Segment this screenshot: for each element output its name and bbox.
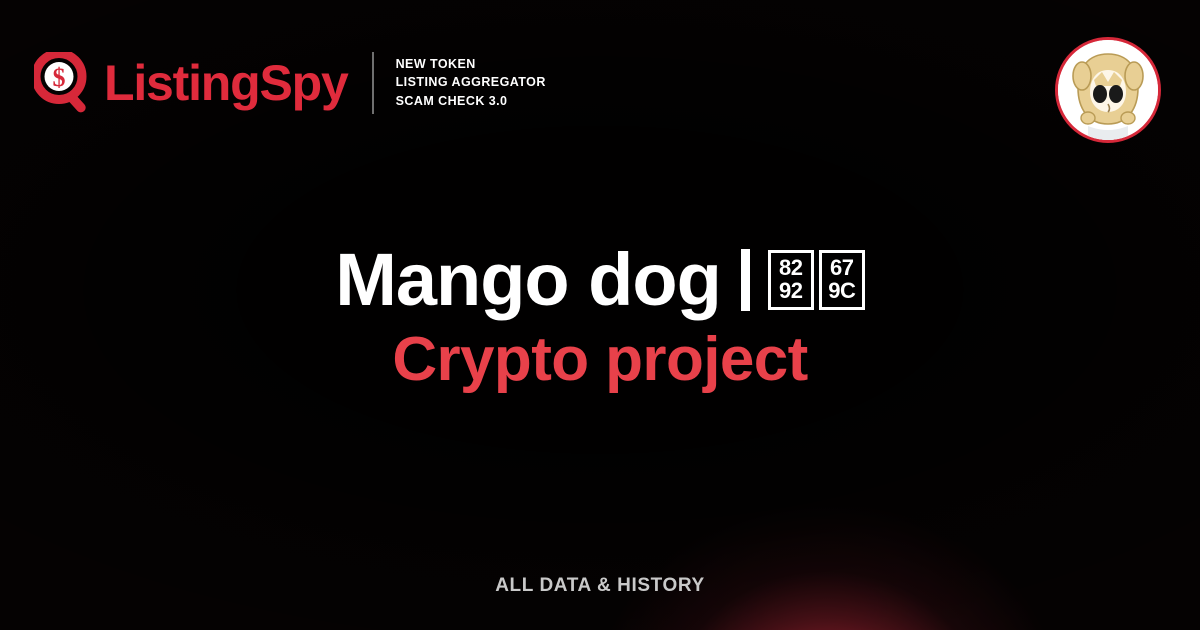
tofu-box-1-bottom: 92 bbox=[779, 280, 802, 303]
page-subtitle: Crypto project bbox=[0, 329, 1200, 391]
brand-name: ListingSpy bbox=[104, 58, 348, 108]
tofu-box-2-bottom: 9C bbox=[828, 280, 855, 303]
tagline-line-2: LISTING AGGREGATOR bbox=[396, 75, 546, 90]
share-card: $ ListingSpy NEW TOKEN LISTING AGGREGATO… bbox=[0, 0, 1200, 630]
footer-text: ALL DATA & HISTORY bbox=[495, 575, 705, 596]
avatar[interactable] bbox=[1055, 37, 1161, 143]
header-divider bbox=[372, 52, 374, 114]
magnifier-dollar-icon: $ bbox=[34, 52, 92, 114]
svg-text:$: $ bbox=[53, 63, 66, 92]
page-title: Mango dog 82 92 67 9C bbox=[0, 243, 1200, 317]
brand-tagline: NEW TOKEN LISTING AGGREGATOR SCAM CHECK … bbox=[396, 57, 546, 109]
tofu-glyph-group: 82 92 67 9C bbox=[768, 250, 865, 310]
tagline-line-1: NEW TOKEN bbox=[396, 57, 546, 72]
main-content: Mango dog 82 92 67 9C Crypto project bbox=[0, 243, 1200, 391]
tofu-box-1: 82 92 bbox=[768, 250, 814, 310]
footer: ALL DATA & HISTORY bbox=[0, 575, 1200, 597]
dog-hood-character-avatar-icon bbox=[1058, 40, 1158, 140]
brand-logo[interactable]: $ ListingSpy bbox=[34, 52, 348, 114]
title-text: Mango dog bbox=[335, 243, 721, 317]
header: $ ListingSpy NEW TOKEN LISTING AGGREGATO… bbox=[34, 52, 546, 114]
tagline-line-3: SCAM CHECK 3.0 bbox=[396, 94, 546, 109]
tofu-box-1-top: 82 bbox=[779, 257, 802, 280]
tofu-box-2-top: 67 bbox=[830, 257, 853, 280]
title-separator bbox=[741, 249, 750, 311]
tofu-box-2: 67 9C bbox=[819, 250, 865, 310]
